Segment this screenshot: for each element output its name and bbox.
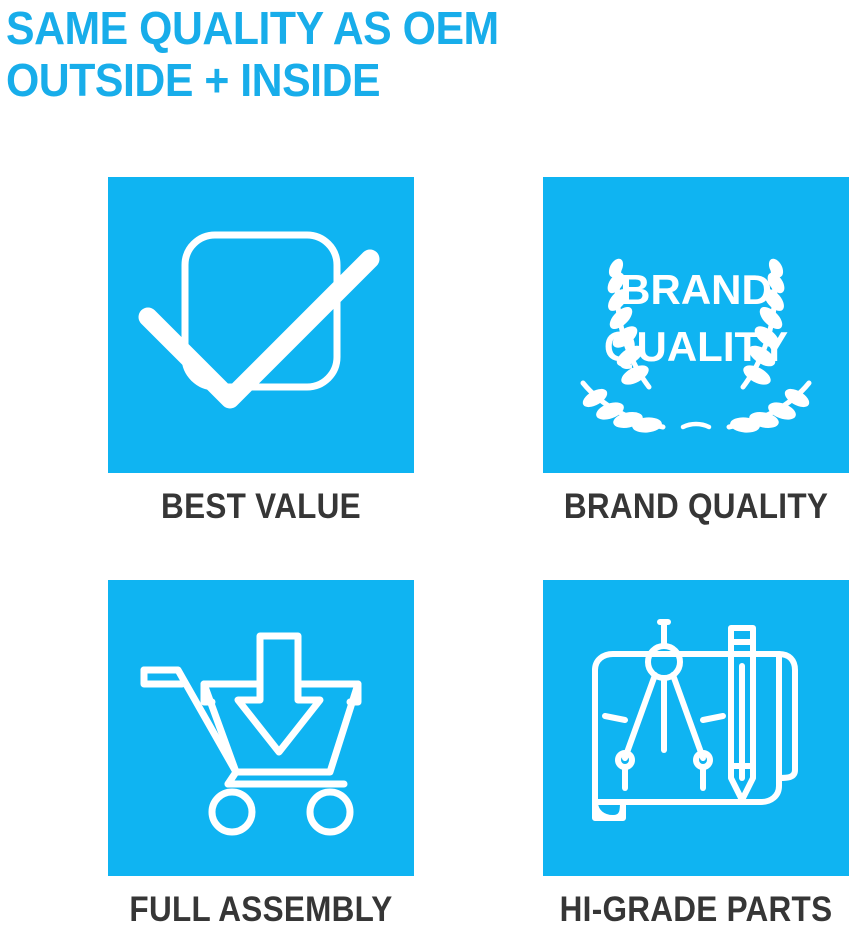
feature-caption: BRAND QUALITY [558, 487, 833, 527]
feature-card-best-value: BEST VALUE [108, 177, 414, 527]
feature-card-full-assembly: FULL ASSEMBLY [108, 580, 414, 930]
wreath-label-line-2: QUALITY [604, 323, 788, 370]
features-grid: BEST VALUE [0, 0, 862, 929]
feature-tile: BRAND QUALITY [543, 177, 849, 473]
laurel-wreath-icon: BRAND QUALITY [543, 177, 849, 473]
blueprint-compass-pencil-icon [543, 580, 849, 876]
feature-tile [543, 580, 849, 876]
feature-tile [108, 580, 414, 876]
feature-tile [108, 177, 414, 473]
wreath-label-line-1: BRAND [620, 266, 772, 313]
feature-caption: BEST VALUE [123, 487, 398, 527]
feature-card-hi-grade-parts: HI-GRADE PARTS [543, 580, 849, 930]
feature-grid-page: SAME QUALITY AS OEM OUTSIDE + INSIDE BES… [0, 0, 862, 929]
download-arrow-icon [238, 636, 320, 752]
feature-caption: HI-GRADE PARTS [558, 890, 833, 930]
feature-card-brand-quality: BRAND QUALITY BRAND QUALITY [543, 177, 849, 527]
checkbox-check-icon [108, 177, 414, 473]
shopping-cart-download-icon [108, 580, 414, 876]
feature-caption: FULL ASSEMBLY [123, 890, 398, 930]
